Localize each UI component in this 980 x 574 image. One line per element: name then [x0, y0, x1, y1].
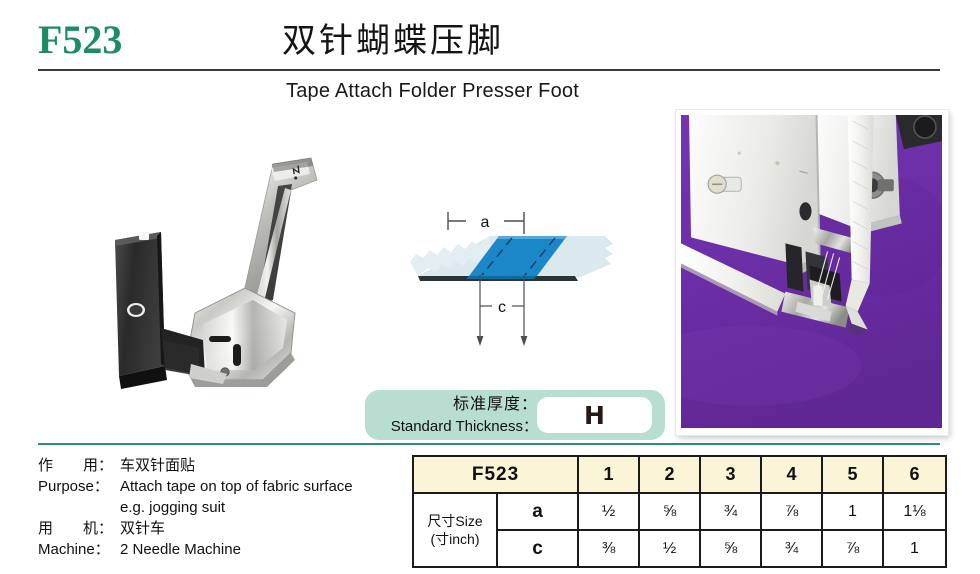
presser-foot-photo — [95, 128, 355, 393]
table-model-code: F523 — [413, 456, 578, 493]
description-block: 作 用： 车双针面贴 Purpose： Attach tape on top o… — [38, 455, 408, 560]
cell-a-2: ⅝ — [639, 493, 700, 530]
header-divider — [38, 69, 940, 71]
cell-a-5: 1 — [822, 493, 883, 530]
table-col-6: 6 — [883, 456, 946, 493]
dimension-diagram: a c — [400, 198, 655, 348]
section-divider — [38, 443, 940, 445]
table-col-3: 3 — [700, 456, 761, 493]
foot-shank — [243, 158, 317, 306]
cell-a-1: ½ — [578, 493, 639, 530]
purpose-row-english: Purpose： Attach tape on top of fabric su… — [38, 476, 408, 497]
thickness-value-chip: H — [537, 397, 652, 433]
cell-c-3: ⅝ — [700, 530, 761, 567]
table-col-5: 5 — [822, 456, 883, 493]
dimension-a-label: a — [481, 214, 490, 231]
dimension-c-label: c — [498, 299, 506, 316]
purpose-value-english: Attach tape on top of fabric surface — [120, 476, 408, 497]
machine-value-chinese: 双针车 — [120, 518, 408, 539]
purpose-label-english: Purpose： — [38, 476, 120, 497]
thickness-label-chinese: 标准厚度： — [383, 394, 538, 416]
machine-label-chinese: 用 机： — [38, 518, 120, 539]
cell-c-5: ⅞ — [822, 530, 883, 567]
cell-a-6: 1⅛ — [883, 493, 946, 530]
thickness-label-english: Standard Thickness： — [383, 416, 538, 437]
machine-row-chinese: 用 机： 双针车 — [38, 518, 408, 539]
thickness-label-group: 标准厚度： Standard Thickness： — [383, 394, 538, 437]
table-col-2: 2 — [639, 456, 700, 493]
row-label-a: a — [497, 493, 578, 530]
row-label-c: c — [497, 530, 578, 567]
cell-a-4: ⅞ — [761, 493, 822, 530]
size-unit-label: 尺寸Size (寸inch) — [413, 493, 497, 567]
table-row: 尺寸Size (寸inch) a ½ ⅝ ¾ ⅞ 1 1⅛ — [413, 493, 946, 530]
cell-c-2: ½ — [639, 530, 700, 567]
machine-value-english: 2 Needle Machine — [120, 539, 408, 560]
machine-screw-left — [708, 175, 741, 193]
thickness-value: H — [537, 397, 652, 433]
page-header: F523 双针蝴蝶压脚 Tape Attach Folder Presser F… — [0, 0, 980, 110]
size-unit-text: (寸inch) — [414, 530, 496, 548]
size-label-text: 尺寸Size — [414, 512, 496, 530]
machine-label-english: Machine： — [38, 539, 120, 560]
purpose-row-chinese: 作 用： 车双针面贴 — [38, 455, 408, 476]
machine-row-english: Machine： 2 Needle Machine — [38, 539, 408, 560]
machine-operation-photo — [676, 110, 948, 435]
standard-thickness-badge: 标准厚度： Standard Thickness： H — [365, 390, 665, 440]
table-col-4: 4 — [761, 456, 822, 493]
table-header-row: F523 1 2 3 4 5 6 — [413, 456, 946, 493]
table-col-1: 1 — [578, 456, 639, 493]
page-title-english: Tape Attach Folder Presser Foot — [286, 80, 579, 103]
cell-c-4: ¾ — [761, 530, 822, 567]
model-code: F523 — [38, 18, 122, 62]
page-title-chinese: 双针蝴蝶压脚 — [282, 20, 504, 62]
purpose-label-chinese: 作 用： — [38, 455, 120, 476]
purpose-value-english-continued: e.g. jogging suit — [120, 497, 408, 518]
cell-a-3: ¾ — [700, 493, 761, 530]
cell-c-1: ⅜ — [578, 530, 639, 567]
cell-c-6: 1 — [883, 530, 946, 567]
purpose-value-chinese: 车双针面贴 — [120, 455, 408, 476]
specification-table: F523 1 2 3 4 5 6 尺寸Size (寸inch) a ½ ⅝ ¾ … — [412, 455, 947, 568]
